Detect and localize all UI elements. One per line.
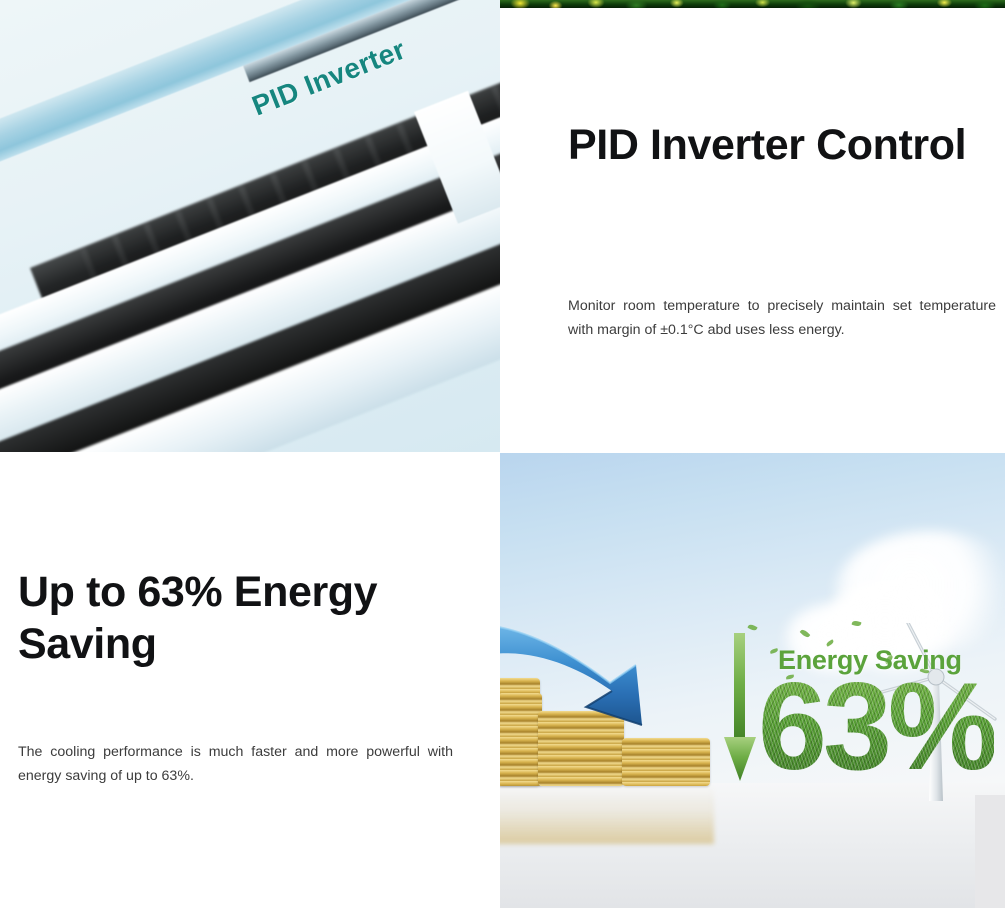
blue-descending-arrow-icon — [500, 621, 720, 741]
pid-inverter-heading: PID Inverter Control — [568, 120, 968, 172]
energy-saving-percentage: 63% — [758, 665, 994, 789]
energy-saving-heading: Up to 63% Energy Saving — [18, 567, 478, 670]
air-conditioner-closeup-image: PID Inverter — [0, 0, 500, 452]
energy-saving-description: The cooling performance is much faster a… — [18, 740, 453, 789]
energy-saving-illustration-image: Energy Saving 63% — [500, 453, 1005, 908]
product-feature-page: PID Inverter PID Inverter Control Monito… — [0, 0, 1005, 908]
energy-saving-text-panel: Up to 63% Energy Saving The cooling perf… — [0, 452, 500, 908]
green-foliage-strip — [500, 0, 1005, 8]
green-down-arrow-icon — [722, 633, 758, 783]
pid-inverter-description: Monitor room temperature to precisely ma… — [568, 294, 996, 343]
right-edge-gutter — [975, 795, 1005, 908]
coin-reflection — [500, 786, 714, 844]
coin-stack — [622, 738, 710, 786]
pid-inverter-text-panel: PID Inverter Control Monitor room temper… — [500, 8, 1005, 452]
